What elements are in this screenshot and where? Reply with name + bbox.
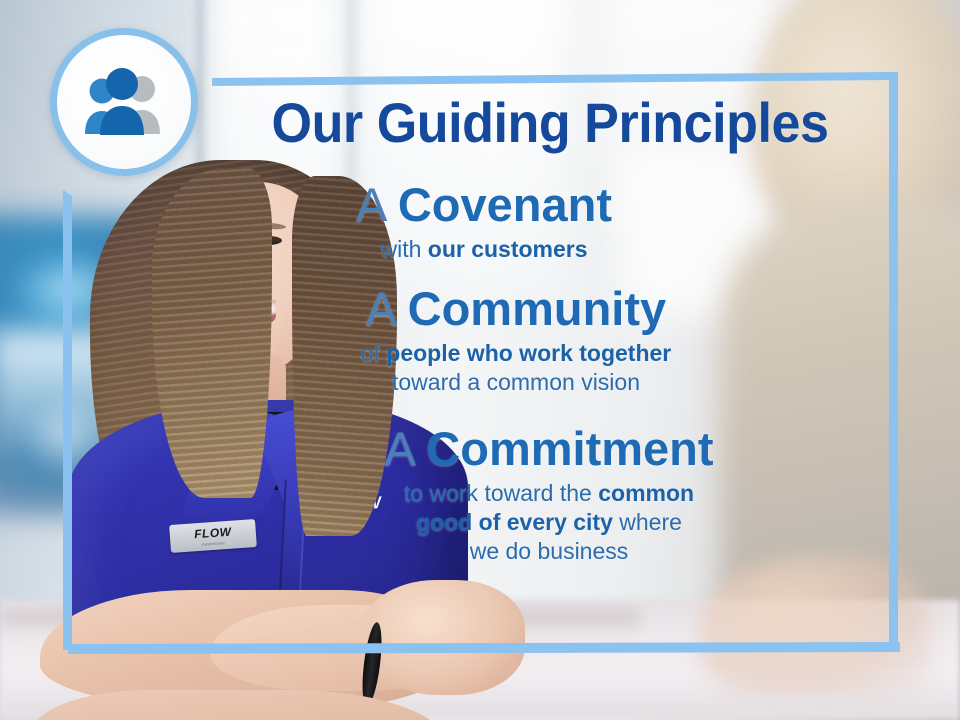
principle-commitment-sub-bold2: good of every city	[416, 509, 613, 535]
principle-community-lead: A	[366, 282, 408, 335]
principle-covenant-heading: A Covenant	[78, 180, 890, 231]
principle-community-key: Community	[408, 282, 667, 335]
principle-covenant-sub-plain: with	[380, 236, 427, 262]
principle-community-sub-bold: people who work together	[386, 340, 671, 366]
principle-commitment-sub-bold1: common	[598, 480, 694, 506]
principle-community-sub: of people who work together toward a com…	[142, 339, 890, 398]
principle-covenant-lead: A	[356, 178, 398, 231]
principle-commitment-heading: A Commitment	[208, 424, 890, 475]
principle-commitment-sub-lead: to work toward the	[404, 480, 598, 506]
customer-arm-blurred	[700, 555, 930, 695]
principle-commitment-lead: A	[384, 422, 426, 475]
principle-community-heading: A Community	[142, 284, 890, 335]
principle-commitment-sub-where: where	[613, 509, 682, 535]
principle-covenant-sub: with our customers	[78, 235, 890, 264]
principle-community-sub-lead: of	[361, 340, 387, 366]
guiding-principles-banner: FLOW FLOW Automotive	[0, 0, 960, 720]
principle-commitment-sub: to work toward the common good of every …	[208, 479, 890, 567]
page-title: Our Guiding Principles	[225, 95, 876, 151]
people-group-icon	[76, 66, 172, 138]
principle-commitment-sub-line3: we do business	[470, 538, 629, 564]
people-badge	[50, 28, 198, 176]
principle-covenant: A Covenant with our customers	[78, 180, 890, 264]
principle-community-sub-line2: toward a common vision	[392, 369, 640, 395]
principle-covenant-sub-bold: our customers	[428, 236, 588, 262]
principle-commitment: A Commitment to work toward the common g…	[208, 424, 890, 567]
clasped-hands	[360, 580, 525, 695]
principle-commitment-key: Commitment	[426, 422, 713, 475]
principle-covenant-key: Covenant	[398, 178, 612, 231]
principle-community: A Community of people who work together …	[142, 284, 890, 398]
principles-list: A Covenant with our customers A Communit…	[90, 180, 890, 573]
